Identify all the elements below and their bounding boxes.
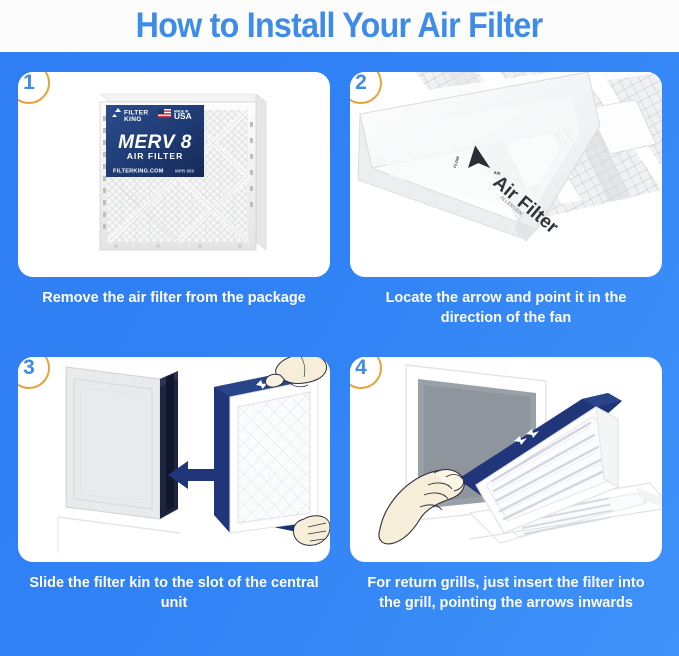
svg-text:AIR FILTER: AIR FILTER (127, 151, 184, 161)
step-2: 2 (350, 72, 662, 328)
svg-text:MERV 8: MERV 8 (118, 132, 192, 153)
steps-grid: 1 (0, 52, 679, 656)
header-band: How to Install Your Air Filter (0, 0, 679, 52)
step-2-card: 2 (350, 72, 662, 277)
svg-text:FILTERKING.COM: FILTERKING.COM (113, 169, 164, 175)
infographic-page: How to Install Your Air Filter 1 (0, 0, 679, 656)
step-3-caption: Slide the filter kin to the slot of the … (18, 573, 330, 613)
step-3: 3 (18, 357, 330, 613)
return-grill-insert-illustration (350, 357, 662, 562)
svg-text:KING: KING (124, 116, 142, 123)
step-1-caption: Remove the air filter from the package (18, 288, 330, 308)
step-4-caption: For return grills, just insert the filte… (350, 573, 662, 613)
merv8-filter-photo: FILTER KING MADE IN USA (18, 72, 330, 277)
step-4-card: 4 (350, 357, 662, 562)
page-title: How to Install Your Air Filter (136, 6, 543, 46)
step-2-caption: Locate the arrow and point it in the dir… (350, 288, 662, 328)
step-1-card: 1 (18, 72, 330, 277)
step-3-card: 3 (18, 357, 330, 562)
slide-filter-into-slot-illustration (18, 357, 330, 562)
step-1: 1 (18, 72, 330, 308)
svg-text:MPR 650: MPR 650 (175, 169, 195, 174)
svg-text:USA: USA (174, 111, 192, 121)
step-4: 4 (350, 357, 662, 613)
filter-corner-arrow-photo: AIR FLOW Air Filter ALLERGEN (350, 72, 662, 277)
